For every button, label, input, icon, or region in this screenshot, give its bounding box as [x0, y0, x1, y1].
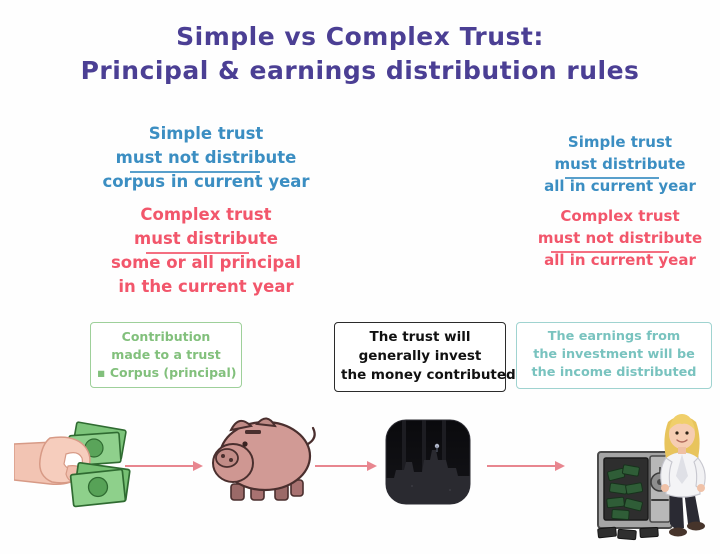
arrow-contribution-to-trust — [125, 460, 203, 472]
rules-column-right: Simple trust must distribute all in curr… — [522, 132, 718, 272]
arrow-head — [367, 461, 377, 471]
right-simple-detail: all in current year — [522, 176, 718, 198]
contribution-line-2: made to a trust — [97, 346, 235, 364]
invest-line-3: the money contributed — [341, 366, 499, 385]
right-simple-heading: Simple trust — [522, 132, 718, 154]
caption-box-invest: The trust will generally invest the mone… — [334, 322, 506, 392]
left-simple-detail: corpus in current year — [92, 170, 320, 194]
caption-box-contribution: Contribution made to a trust ▪ Corpus (p… — [90, 322, 242, 388]
rules-column-left: Simple trust must not distribute corpus … — [92, 122, 320, 298]
arrow-head — [193, 461, 203, 471]
earnings-line-2: the investment will be — [523, 346, 705, 364]
right-complex-emphasis: must not distribute — [538, 228, 702, 250]
left-simple-emphasis: must not distribute — [116, 146, 297, 170]
invest-line-1: The trust will — [341, 328, 499, 347]
hand-holding-money-icon — [14, 414, 136, 514]
rules-left-spacer — [92, 194, 320, 203]
arrow-shaft — [315, 465, 368, 467]
contribution-bullet-corpus: ▪ Corpus (principal) — [97, 364, 235, 382]
arrow-trust-to-investment — [315, 460, 377, 472]
caption-box-earnings: The earnings from the investment will be… — [516, 322, 712, 389]
investment-chart-icon — [382, 416, 474, 508]
right-complex-detail: all in current year — [522, 250, 718, 272]
right-complex-heading: Complex trust — [522, 206, 718, 228]
invest-line-2: generally invest — [341, 347, 499, 366]
arrow-investment-to-income — [487, 460, 565, 472]
arrow-head — [555, 461, 565, 471]
left-complex-emphasis-wrap: must distribute — [92, 227, 320, 251]
right-complex-emphasis-wrap: must not distribute — [522, 228, 718, 250]
right-simple-emphasis: must distribute — [555, 154, 686, 176]
left-simple-heading: Simple trust — [92, 122, 320, 146]
right-simple-emphasis-wrap: must distribute — [522, 154, 718, 176]
contribution-line-1: Contribution — [97, 328, 235, 346]
piggy-bank-icon — [205, 408, 317, 508]
page-title: Simple vs Complex Trust: Principal & ear… — [0, 20, 720, 88]
safe-with-money-and-person-icon — [592, 404, 716, 546]
title-line-2: Principal & earnings distribution rules — [0, 54, 720, 88]
left-complex-detail-2: in the current year — [92, 275, 320, 299]
rules-right-spacer — [522, 197, 718, 206]
left-simple-emphasis-wrap: must not distribute — [92, 146, 320, 170]
earnings-line-3: the income distributed — [523, 364, 705, 382]
left-complex-emphasis: must distribute — [134, 227, 278, 251]
left-complex-heading: Complex trust — [92, 203, 320, 227]
arrow-shaft — [487, 465, 556, 467]
left-complex-detail-1: some or all principal — [92, 251, 320, 275]
earnings-line-1: The earnings from — [523, 328, 705, 346]
title-line-1: Simple vs Complex Trust: — [0, 20, 720, 54]
